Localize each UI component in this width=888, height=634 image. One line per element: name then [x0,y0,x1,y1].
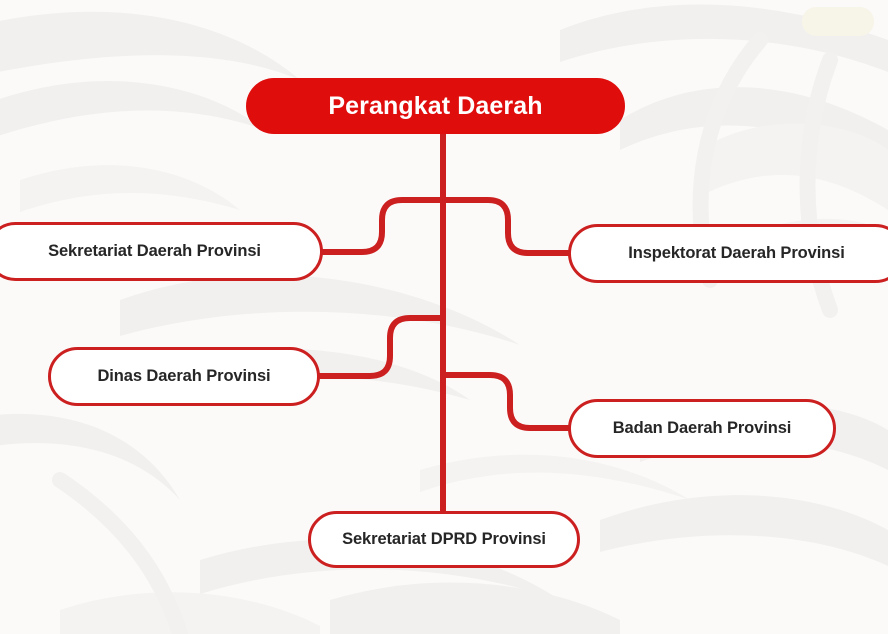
node-label: Dinas Daerah Provinsi [97,367,270,386]
node-perangkat-daerah[interactable]: Perangkat Daerah [246,78,625,134]
node-label: Inspektorat Daerah Provinsi [628,244,844,263]
connector-dinas-daerah [318,318,443,376]
node-dinas-daerah-provinsi[interactable]: Dinas Daerah Provinsi [48,347,320,406]
connector-inspektorat-daerah [443,200,570,253]
node-label: Badan Daerah Provinsi [613,419,792,438]
node-label: Perangkat Daerah [328,92,542,121]
connector-sekretariat-daerah [320,200,443,252]
node-label: Sekretariat Daerah Provinsi [48,242,261,261]
node-label: Sekretariat DPRD Provinsi [342,530,546,549]
node-inspektorat-daerah-provinsi[interactable]: Inspektorat Daerah Provinsi [568,224,888,283]
node-badan-daerah-provinsi[interactable]: Badan Daerah Provinsi [568,399,836,458]
node-sekretariat-daerah-provinsi[interactable]: Sekretariat Daerah Provinsi [0,222,323,281]
background-accent-chip [802,7,874,36]
connector-badan-daerah [443,375,570,428]
node-sekretariat-dprd-provinsi[interactable]: Sekretariat DPRD Provinsi [308,511,580,568]
diagram-canvas: Perangkat Daerah Sekretariat Daerah Prov… [0,0,888,634]
